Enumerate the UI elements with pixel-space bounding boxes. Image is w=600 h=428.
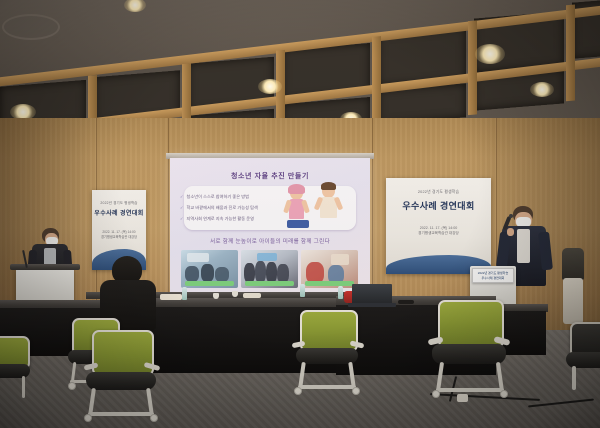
- chair-3: [292, 310, 366, 396]
- projection-screen: 청소년 자율 추진 만들기 청소년이 스스로 참여하기 좋은 방법 학교 바깥에…: [170, 158, 370, 300]
- presentation-slide: 청소년 자율 추진 만들기 청소년이 스스로 참여하기 좋은 방법 학교 바깥에…: [170, 158, 370, 300]
- water-bottle: [338, 286, 343, 299]
- water-bottle: [300, 284, 305, 297]
- banner-left-title: 우수사례 경연대회: [92, 208, 146, 217]
- slide-boy-figure: [316, 182, 342, 228]
- slide-title: 청소년 자율 추진 만들기: [170, 171, 370, 181]
- chair-2: [82, 330, 162, 422]
- podium-sign: 2022년 경기도 평생학습 우수사례 경연대회: [472, 268, 514, 283]
- laptop-keyboard: [348, 303, 396, 307]
- microphone-head-icon: [509, 214, 513, 218]
- hand-holding-mic: [507, 228, 514, 236]
- banner-right-supertitle: 2022년 경기도 평생학습: [386, 190, 491, 195]
- slide-bullet: 지역사회 연계로 지속 가능한 활동 운영: [180, 216, 254, 222]
- slide-bullet: 학교 바깥에서의 배움과 진로 가능성 탐색: [180, 205, 258, 211]
- slide-figure-base: [287, 220, 309, 228]
- conference-room-photo: 2022년 경기도 평생학습 우수사례 경연대회 2022. 11. 17. (…: [0, 0, 600, 428]
- paper-cup: [232, 291, 238, 297]
- slide-photo-1-caption: [185, 281, 234, 286]
- chair-partial-right: [566, 322, 600, 398]
- stage-banner-right: 2022년 경기도 평생학습 우수사례 경연대회 2022. 11. 17. (…: [386, 178, 491, 274]
- banner-left-supertitle: 2022년 경기도 평생학습: [92, 200, 146, 205]
- banner-right-subtitle: 2022. 11. 17. (목) 14:00 경기평생교육학습관 대강당: [386, 226, 491, 237]
- water-bottle: [182, 287, 187, 300]
- slide-bullet: 청소년이 스스로 참여하기 좋은 방법: [180, 194, 249, 200]
- slide-photo-3: [301, 250, 358, 288]
- chair-partial-left: [0, 336, 32, 406]
- document-stack: [160, 294, 182, 300]
- laptop-screen: [352, 284, 392, 304]
- slide-photo-3-caption: [305, 281, 354, 286]
- slide-subtitle: 서로 함께 눈높이로 아이들의 미래를 함께 그린다: [170, 237, 370, 245]
- slide-photo-2-caption: [245, 281, 294, 286]
- document-stack: [243, 293, 261, 298]
- ceiling-spotlight: [475, 44, 505, 64]
- ceiling-vent-icon: [2, 14, 60, 40]
- banner-right-title: 우수사례 경연대회: [386, 199, 491, 212]
- cable-coil: [398, 300, 414, 304]
- slide-photo-2: [241, 250, 298, 288]
- paper-cup: [213, 293, 219, 299]
- chair-4: [428, 300, 512, 398]
- banner-left-subtitle: 2022. 11. 17. (목) 14:00 경기평생교육학습관 대강당: [92, 230, 146, 240]
- standing-attendee-right: [558, 248, 588, 330]
- ceiling-spotlight: [258, 79, 282, 94]
- ceiling-spotlight: [530, 82, 554, 97]
- lectern-left-shelf: [10, 264, 80, 270]
- slide-photo-1: [181, 250, 238, 288]
